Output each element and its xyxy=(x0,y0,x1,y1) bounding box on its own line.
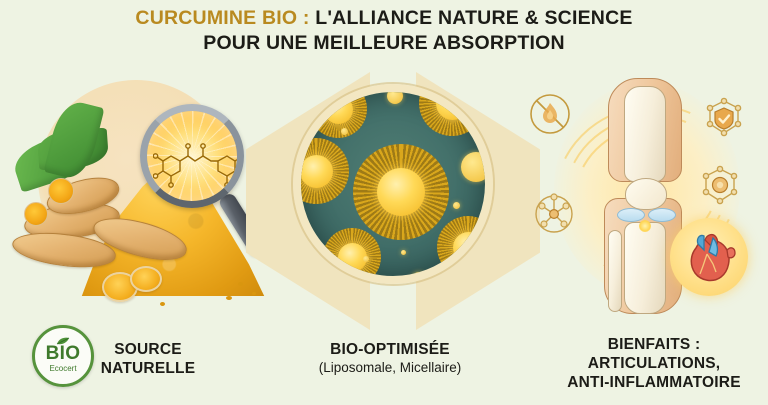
micelle-icon xyxy=(309,84,367,138)
liposome-core xyxy=(453,232,484,263)
liposome-icon xyxy=(353,144,449,240)
joint-spark xyxy=(639,220,651,232)
knee-fibula-bone xyxy=(608,230,622,312)
bio-badge-label: BIO xyxy=(46,344,81,363)
micelle-icon xyxy=(419,84,485,136)
powder-crumb xyxy=(226,296,232,300)
caption-line: ARTICULATIONS, xyxy=(540,355,768,374)
knee-cartilage xyxy=(648,208,676,222)
turmeric-slice-icon xyxy=(130,266,162,292)
micelle-icon xyxy=(323,228,381,284)
free-particle xyxy=(341,128,348,135)
liposome-core xyxy=(338,243,367,272)
free-particle xyxy=(387,88,403,104)
knee-patella xyxy=(625,178,667,210)
magnifier-icon xyxy=(140,104,264,264)
magnifier-lens xyxy=(140,104,244,208)
shield-check-icon xyxy=(700,96,748,144)
liposome-core xyxy=(324,95,353,124)
micelle-icon xyxy=(293,138,349,204)
page-title: CURCUMINE BIO : L'ALLIANCE NATURE & SCIE… xyxy=(0,6,768,56)
panel-bienfaits xyxy=(520,72,768,330)
caption-line: BIENFAITS : xyxy=(540,336,768,355)
panel-bio-optimisee xyxy=(258,72,528,330)
liposome-core xyxy=(300,155,333,188)
no-flame-icon xyxy=(528,92,572,136)
page-title-highlight: CURCUMINE BIO : xyxy=(135,7,309,29)
page-title-line-1: CURCUMINE BIO : L'ALLIANCE NATURE & SCIE… xyxy=(135,7,632,29)
page-title-rest: L'ALLIANCE NATURE & SCIENCE xyxy=(310,7,633,29)
page-title-line-2: POUR UNE MEILLEURE ABSORPTION xyxy=(0,31,768,56)
free-particle xyxy=(453,202,460,209)
knee-femur-bone xyxy=(624,86,666,182)
knee-cartilage xyxy=(617,208,645,222)
knee-tibia-bone xyxy=(624,222,666,314)
free-particle xyxy=(461,152,491,182)
liposome-core xyxy=(377,168,425,216)
heart-icon xyxy=(683,228,737,286)
bio-badge-sublabel: Ecocert xyxy=(49,364,76,374)
caption-line: BIO-OPTIMISÉE xyxy=(278,341,502,360)
curcumin-molecule-icon xyxy=(153,137,244,189)
turmeric-root-cut xyxy=(24,202,48,226)
powder-crumb xyxy=(252,292,256,295)
atom-icon xyxy=(530,190,578,238)
caption-line: ANTI-INFLAMMATOIRE xyxy=(540,374,768,393)
bio-ecocert-badge: BIO Ecocert xyxy=(32,325,94,387)
powder-crumb xyxy=(160,302,165,306)
powder-crumb xyxy=(238,282,243,286)
free-particle xyxy=(363,256,369,262)
free-particle xyxy=(401,250,406,255)
caption-bienfaits: BIENFAITS : ARTICULATIONS, ANTI-INFLAMMA… xyxy=(540,336,768,393)
turmeric-root-cut xyxy=(48,178,74,204)
molecule-icon xyxy=(696,164,744,212)
liposome-core xyxy=(436,87,469,120)
infographic-stage: BIO Ecocert xyxy=(0,72,768,330)
heart-badge xyxy=(670,218,748,296)
caption-subline: (Liposomale, Micellaire) xyxy=(278,360,502,376)
caption-bio-optimisee: BIO-OPTIMISÉE (Liposomale, Micellaire) xyxy=(278,341,502,376)
micelle-icon xyxy=(437,216,493,278)
liposome-view-circle xyxy=(293,84,493,284)
